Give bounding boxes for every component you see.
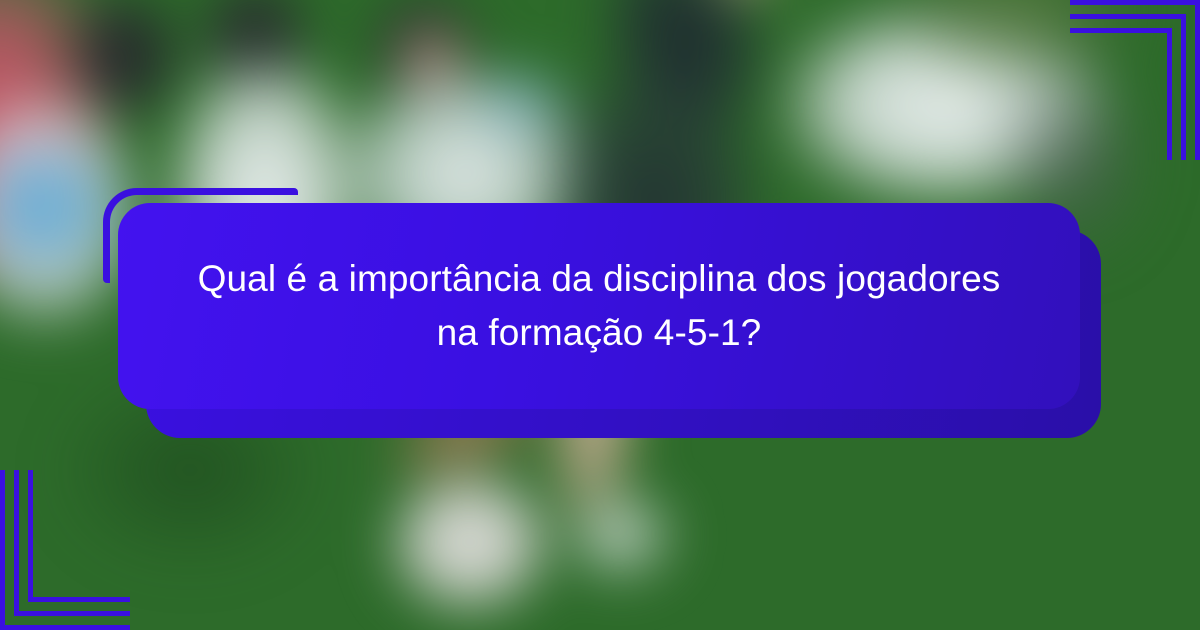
headline-card: Qual é a importância da disciplina dos j…: [118, 203, 1080, 409]
headline-text: Qual é a importância da disciplina dos j…: [118, 252, 1080, 360]
social-card-canvas: Qual é a importância da disciplina dos j…: [0, 0, 1200, 630]
background-sock: [555, 480, 685, 590]
background-player-left-jersey: [0, 140, 120, 280]
background-player-right-hand: [700, 0, 790, 10]
background-soccer-ball: [380, 470, 560, 630]
